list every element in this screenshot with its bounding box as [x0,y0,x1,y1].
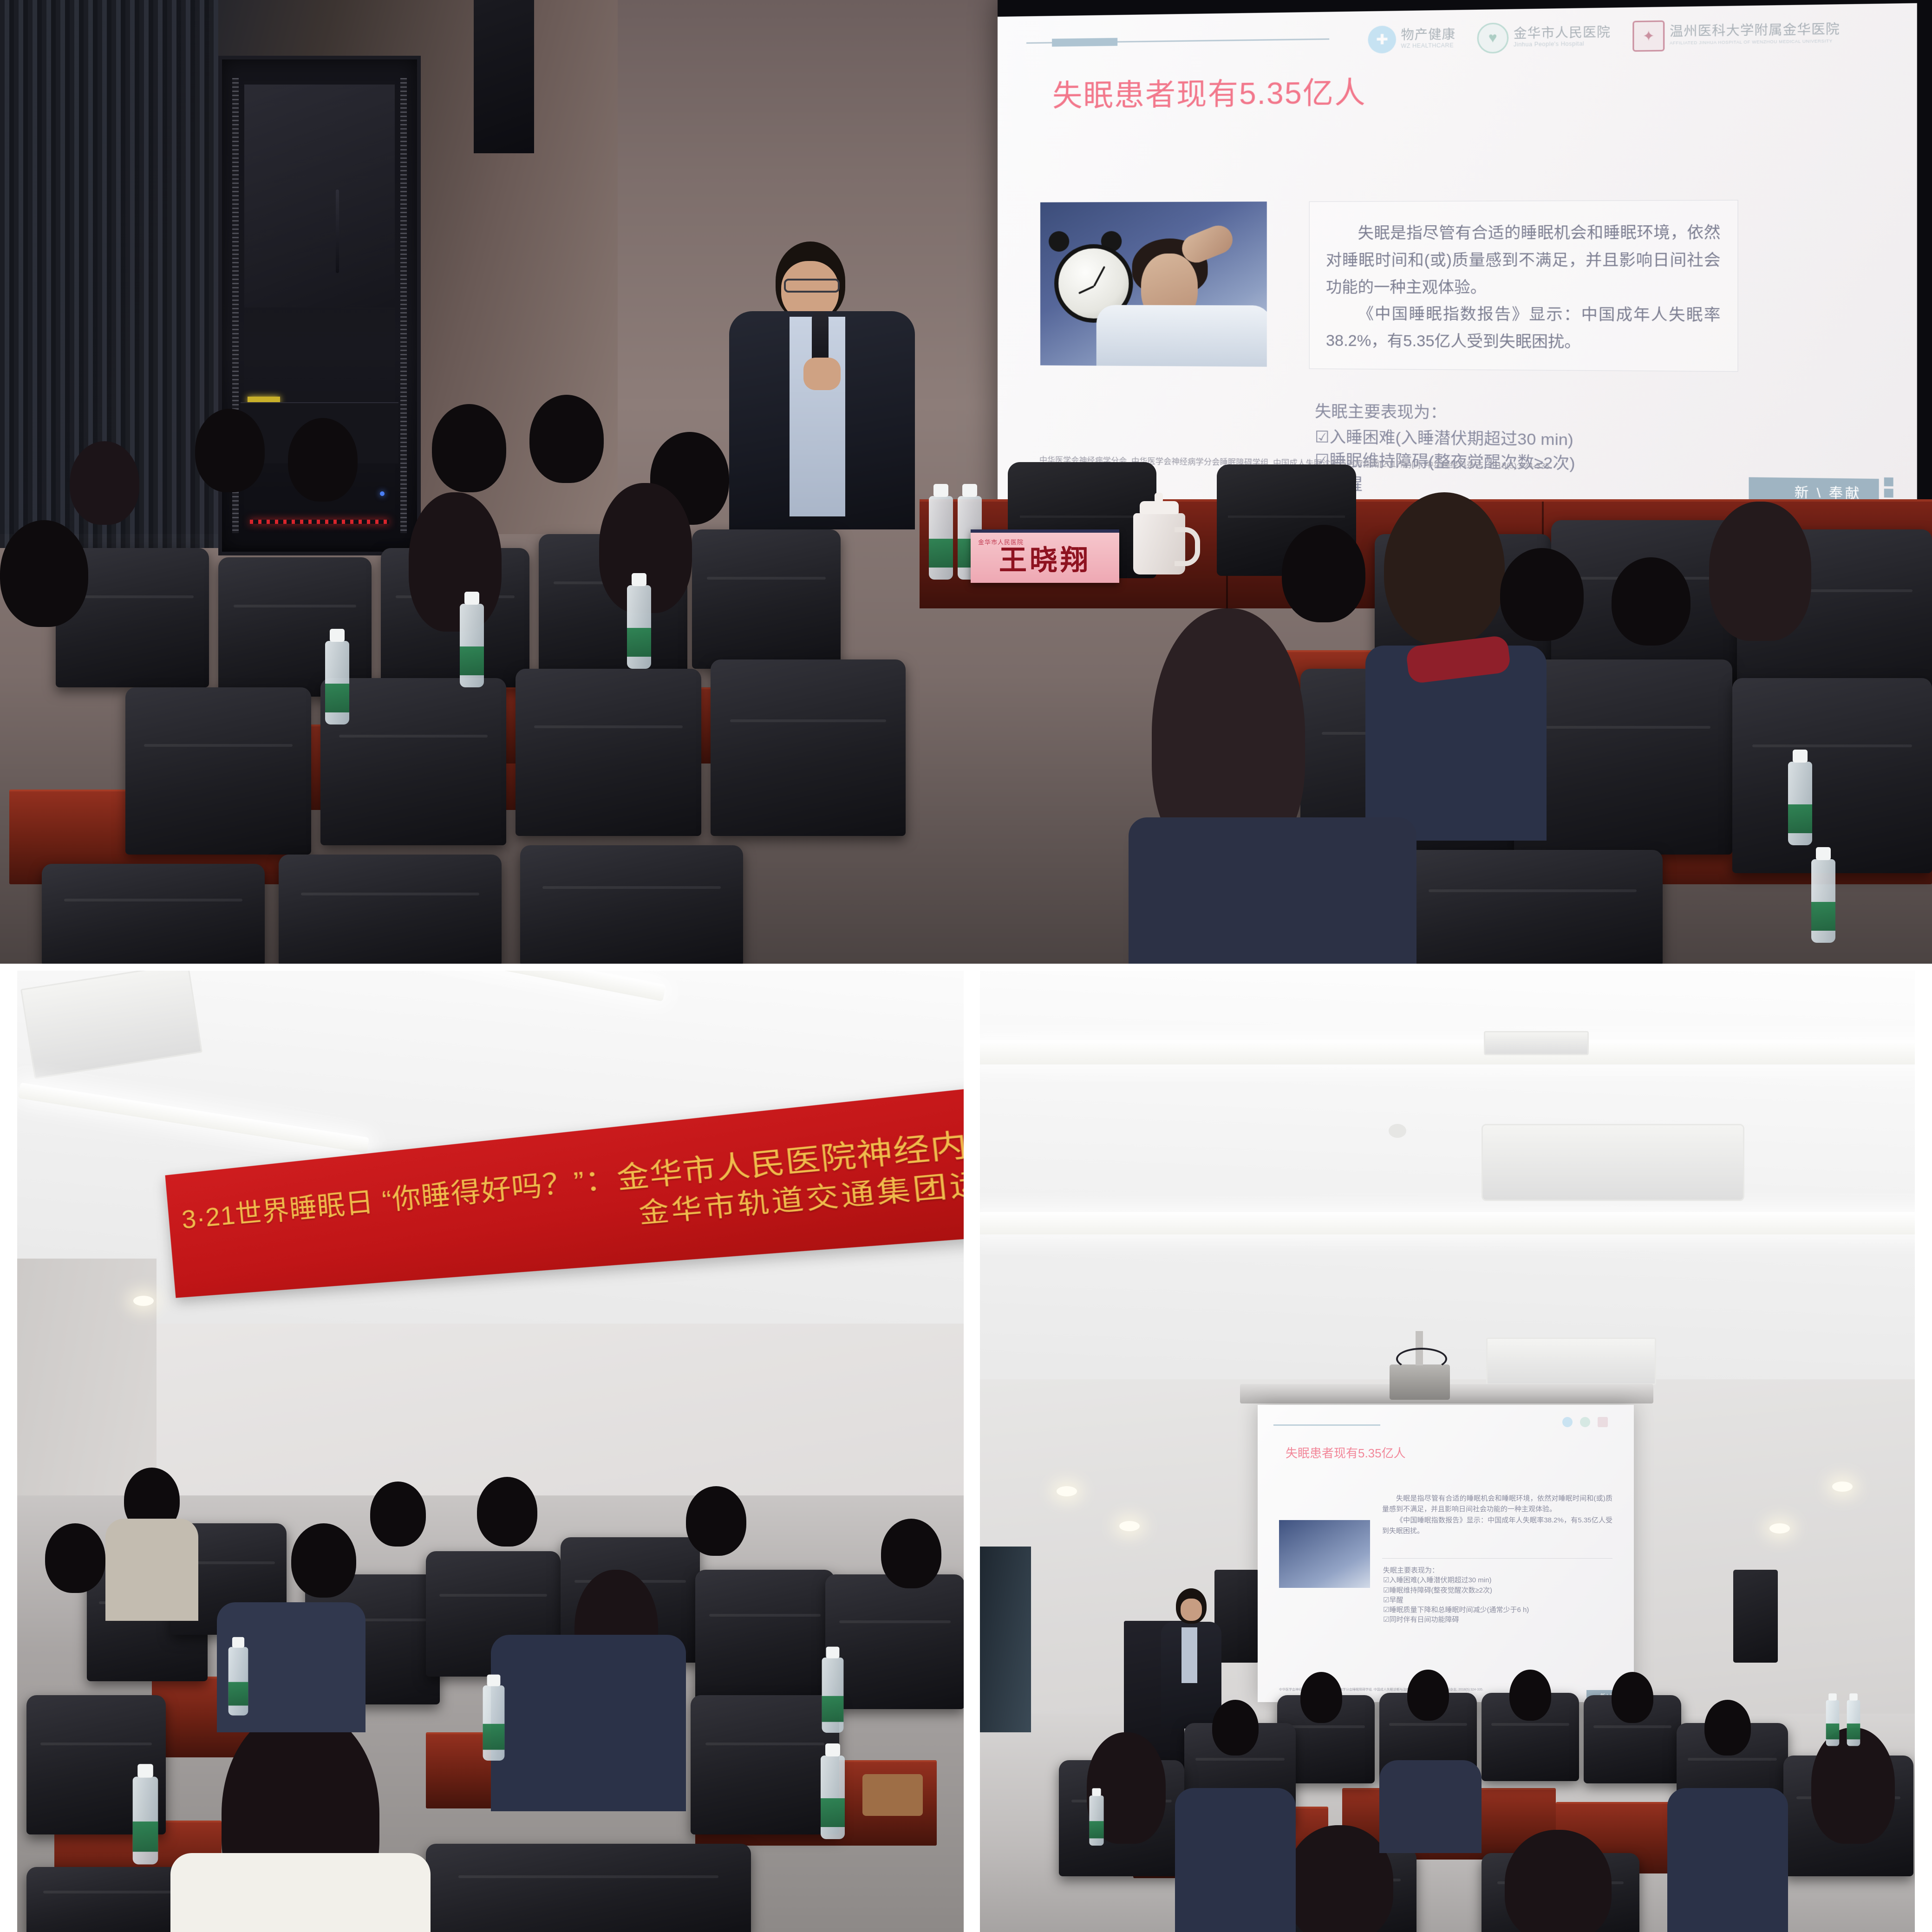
tea-mug [1133,513,1185,574]
audience-head [1509,1670,1551,1721]
photo-top-lecture-hall: ✚ 物产健康 WZ HEALTHCARE ♥ 金华市人民医院 Jinhua Pe… [0,0,1932,964]
photo-bottom-right-room-overview: 失眠患者现有5.35亿人 失眠是指尽管有合适的睡眠机会和睡眠环境，依然对睡眠时间… [980,971,1915,1932]
downlight-icon [1832,1482,1853,1492]
wall-speaker-icon [474,0,534,153]
slide-definition-box: 失眠是指尽管有合适的睡眠机会和睡眠环境，依然对睡眠时间和(或)质量感到不满足，并… [1309,200,1738,372]
audience-head [477,1477,537,1547]
logo-wenzhou-medical-university: ✦ 温州医科大学附属金华医院 AFFILIATED JINHUA HOSPITA… [1632,18,1840,52]
slide-symptom-list: 失眠主要表现为： ☑入睡困难(入睡潜伏期超过30 min) ☑睡眠维持障碍(整夜… [1383,1566,1615,1625]
ac-vent-icon [1482,1124,1744,1201]
presenter-hand [803,358,841,390]
audience-seat [691,1695,839,1834]
audience-head [1704,1700,1751,1756]
slide-logo-row [1562,1417,1608,1427]
audience-head [1612,557,1690,646]
ac-vent-icon [1484,1031,1589,1055]
slide-inset-photo [1040,202,1267,367]
audience-head [1384,492,1505,646]
university-crest-icon: ✦ [1632,20,1664,52]
downlight-icon [1769,1523,1790,1534]
ceiling-light [980,1212,1915,1234]
presenter-shirt [1181,1627,1197,1683]
water-bottle [1089,1795,1103,1846]
water-bottle [929,496,953,580]
slide-top-rule [1273,1424,1380,1426]
downlight-icon [1119,1521,1140,1531]
slide-inset-photo [1279,1520,1370,1588]
photo-collage: ✚ 物产健康 WZ HEALTHCARE ♥ 金华市人民医院 Jinhua Pe… [0,0,1932,1932]
wall-speaker-icon [1733,1570,1778,1663]
audience-head [1300,1672,1342,1723]
audience-head [1212,1700,1259,1756]
projection-screen: ✚ 物产健康 WZ HEALTHCARE ♥ 金华市人民医院 Jinhua Pe… [998,0,1932,538]
logo-label-cn: 温州医科大学附属金华医院 [1670,22,1840,39]
rack-blue-led [380,491,385,496]
presentation-slide: 失眠患者现有5.35亿人 失眠是指尽管有合适的睡眠机会和睡眠环境，依然对睡眠时间… [1258,1405,1634,1702]
inset-pillow [1097,305,1267,367]
slide-list-item: ☑入睡困难(入睡潜伏期超过30 min) [1383,1575,1615,1585]
audience-long-hair [1505,1830,1612,1932]
mug-knob [1155,493,1163,503]
audience-head [686,1486,746,1556]
slide-list-lead: 失眠主要表现为： [1383,1566,1615,1575]
projector-cables [1396,1348,1447,1370]
water-bottle [822,1658,844,1733]
audience-head [1407,1670,1449,1721]
audience-head [70,441,139,525]
audience-seat [692,529,841,669]
audience-head [1500,548,1584,641]
audience-body-uniform [491,1635,686,1811]
audience-seat [1403,850,1663,964]
slide-title: 失眠患者现有5.35亿人 [1052,68,1366,115]
logo-jinhua-peoples-hospital: ♥ 金华市人民医院 Jinhua People's Hospital [1477,21,1611,54]
audience-head [195,409,265,492]
audience-body [105,1519,198,1621]
water-bottle [228,1647,248,1716]
slide-logo-row: ✚ 物产健康 WZ HEALTHCARE ♥ 金华市人民医院 Jinhua Pe… [1368,18,1840,55]
nameplate-org: 金华市人民医院 [978,537,1024,546]
slide-paragraph-2: 《中国睡眠指数报告》显示：中国成年人失眠率38.2%，有5.35亿人受到失眠困扰… [1326,300,1721,357]
audience-head [432,404,506,492]
slide-top-rule-block [1052,38,1117,47]
audience-seat [125,687,311,855]
smoke-detector-icon [1389,1124,1406,1138]
audience-head [0,520,88,627]
ceiling-light [980,1040,1915,1064]
microphone-antenna-icon [336,189,339,273]
audience-head [1282,525,1365,622]
rack-rail-right [400,78,407,533]
water-bottle [133,1777,158,1865]
mug-handle [1175,527,1200,566]
audience-seat [695,1570,835,1700]
logo-label-cn: 物产健康 [1401,27,1456,42]
slide-top-rule [1026,39,1329,44]
audience-long-hair [1286,1825,1393,1932]
slide-list-item: ☑睡眠维持障碍(整夜觉醒次数≥2次) [1383,1586,1615,1595]
downlight-icon [1057,1486,1077,1496]
notebook [862,1774,923,1816]
audience-seat [711,659,906,836]
presenter-figure [1156,1588,1226,1728]
slide-paragraph-1: 失眠是指尽管有合适的睡眠机会和睡眠环境，依然对睡眠时间和(或)质量感到不满足，并… [1382,1493,1612,1515]
water-bottle [1847,1700,1860,1746]
audience-head [881,1519,941,1588]
projection-screen: 失眠患者现有5.35亿人 失眠是指尽管有合适的睡眠机会和睡眠环境，依然对睡眠时间… [1258,1405,1634,1702]
audience-seat [825,1574,964,1709]
logo-label-en: AFFILIATED JINHUA HOSPITAL OF WENZHOU ME… [1670,39,1833,46]
audience-long-hair [1709,502,1811,641]
audience-head [529,395,604,483]
audience-seat [279,855,502,964]
audience-seat [1732,678,1932,873]
logo-label-en: WZ HEALTHCARE [1401,42,1454,49]
water-bottle [1826,1700,1840,1746]
slide-paragraph-2: 《中国睡眠指数报告》显示：中国成年人失眠率38.2%，有5.35亿人受到失眠困扰… [1382,1515,1612,1537]
water-bottle [821,1756,845,1839]
slide-title: 失眠患者现有5.35亿人 [1286,1444,1406,1461]
slide-divider [1382,1558,1612,1559]
logo-wz-healthcare: ✚ 物产健康 WZ HEALTHCARE [1368,25,1456,53]
slide-list-lead: 失眠主要表现为： [1315,400,1719,428]
audience-head [370,1482,426,1547]
rack-red-led-row [250,520,389,524]
slide-symptom-list: 失眠主要表现为： ☑入睡困难(入睡潜伏期超过30 min) ☑睡眠维持障碍(整夜… [1315,400,1719,513]
slide-paragraph-1: 失眠是指尽管有合适的睡眠机会和睡眠环境，依然对睡眠时间和(或)质量感到不满足，并… [1326,219,1721,301]
audience-head [45,1523,105,1593]
water-bottle [1811,859,1835,943]
audience-body-uniform [1667,1788,1788,1932]
logo-label-cn: 金华市人民医院 [1514,25,1611,41]
audience-body-uniform [1379,1760,1482,1853]
photo-bottom-left-banner-room: 3·21世界睡眠日 “你睡得好吗？”：金华市人民医院神经内科主任医师王晓翔《失眠… [17,971,964,1932]
slide-definition-box: 失眠是指尽管有合适的睡眠机会和睡眠环境，依然对睡眠时间和(或)质量感到不满足，并… [1382,1493,1612,1537]
slide-list-item: ☑同时伴有日间功能障碍 [1383,1615,1615,1625]
ac-vent-icon [1486,1338,1656,1385]
audience-seat [26,1867,194,1932]
rack-glass-door [244,85,395,307]
audience-head [288,418,358,502]
alarm-bell-icon [1049,231,1069,252]
audience-head [1612,1672,1653,1723]
water-bottle [483,1685,505,1761]
cross-circle-icon: ✚ [1368,26,1396,53]
water-bottle [460,604,484,687]
audience-body-uniform [1129,817,1416,964]
speaker-nameplate: 金华市人民医院 王晓翔 [971,529,1119,583]
audience-body-uniform [1175,1788,1296,1932]
water-bottle [325,641,349,724]
presenter-face [1181,1599,1202,1621]
downlight-icon [133,1296,154,1306]
ceiling-projector [1390,1364,1450,1400]
audience-seat [42,864,265,964]
audience-seat [1514,659,1732,855]
audience-seat [516,669,701,836]
audience-white-coat [170,1853,431,1932]
heart-shield-icon: ♥ [1477,23,1509,54]
water-bottle [627,585,651,669]
audience-long-hair [409,492,502,632]
water-bottle [1788,762,1812,845]
logo-label-en: Jinhua People's Hospital [1514,40,1584,47]
audience-head [291,1523,356,1598]
window-curtain [980,1547,1031,1732]
slide-list-item: ☑睡眠质量下降和总睡眠时间减少(通常少于6 h) [1383,1605,1615,1615]
audience-seat [426,1844,751,1932]
presenter-figure [724,241,920,529]
mug-lid [1140,501,1179,514]
audience-seat [520,845,743,964]
slide-list-item: ☑早醒 [1383,1595,1615,1605]
glasses-icon [784,279,840,293]
presentation-slide: ✚ 物产健康 WZ HEALTHCARE ♥ 金华市人民医院 Jinhua Pe… [998,3,1917,513]
